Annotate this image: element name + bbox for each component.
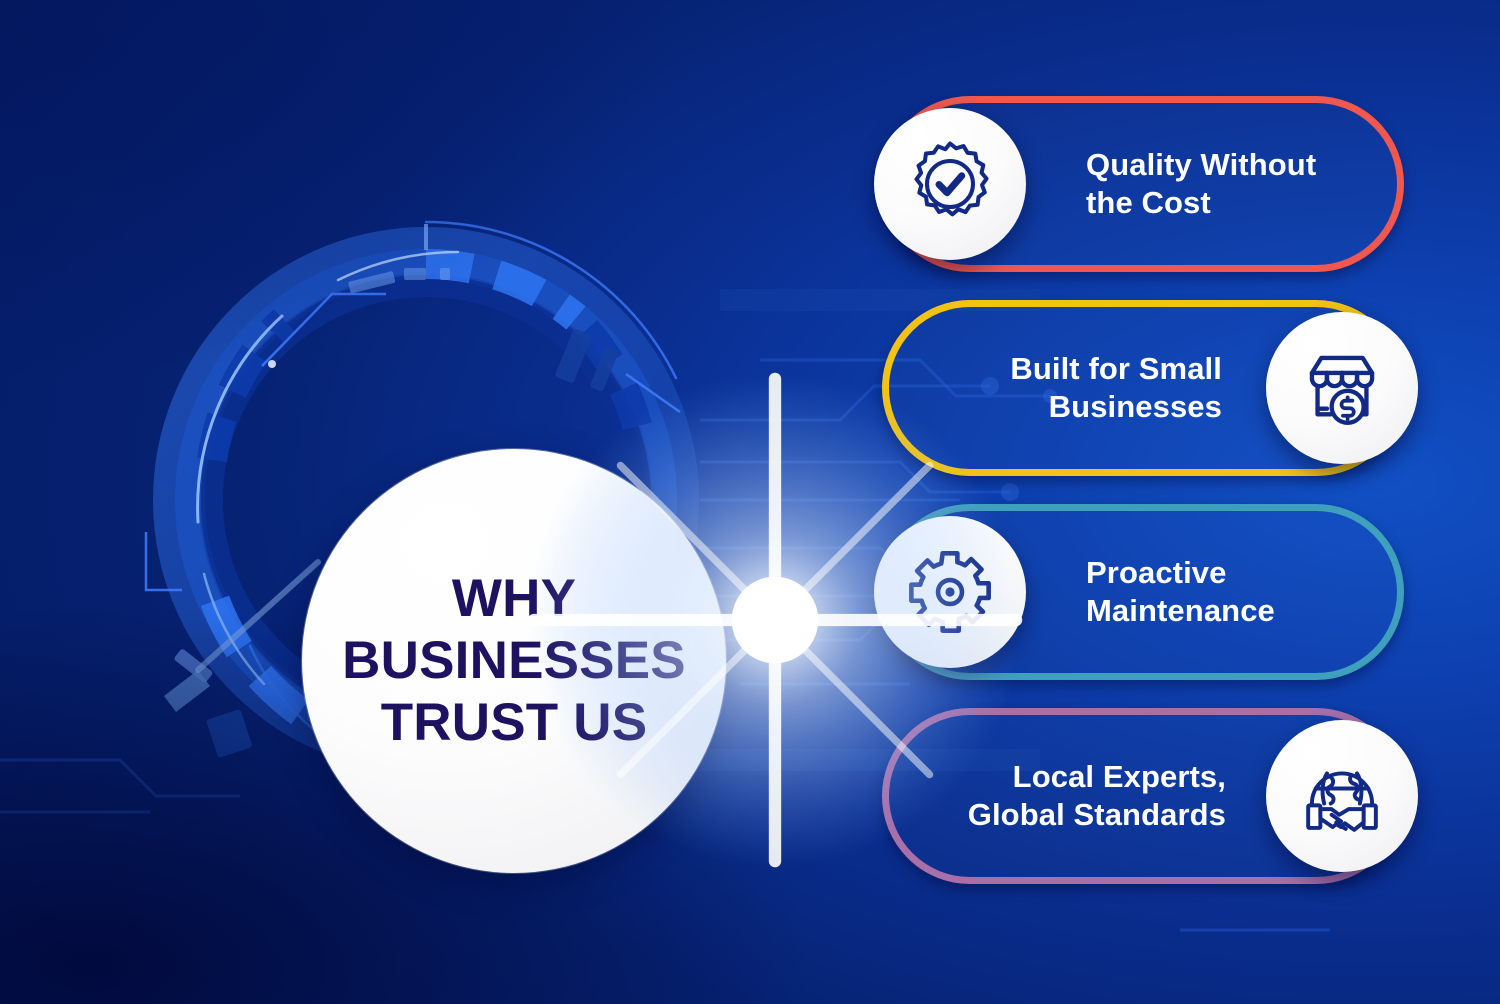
feature-label-line-2: Businesses <box>942 388 1222 426</box>
storefront-dollar-icon <box>1266 312 1418 464</box>
infographic-canvas: WHY BUSINESSES TRUST US <box>0 0 1500 1004</box>
hero-circle: WHY BUSINESSES TRUST US <box>302 449 726 873</box>
feature-label-line-1: Local Experts, <box>930 758 1226 796</box>
page-title-line-2: BUSINESSES <box>334 630 694 692</box>
feature-pill-label: Local Experts, Global Standards <box>930 758 1226 835</box>
feature-label-line-1: Quality Without <box>1086 146 1376 184</box>
feature-pill-quality-without-the-cost[interactable]: Quality Without the Cost <box>882 96 1404 272</box>
page-title-line-1: WHY <box>334 568 694 630</box>
feature-pill-label: Proactive Maintenance <box>1086 554 1376 631</box>
feature-pill-built-for-small-businesses[interactable]: Built for Small Businesses <box>882 300 1404 476</box>
feature-pill-local-experts-global-standards[interactable]: Local Experts, Global Standards <box>882 708 1404 884</box>
feature-pill-label: Built for Small Businesses <box>942 350 1222 427</box>
gear-settings-icon <box>874 516 1026 668</box>
feature-list: Quality Without the Cost Built for Small… <box>882 82 1422 922</box>
feature-label-line-2: the Cost <box>1086 184 1376 222</box>
page-title-line-3: TRUST US <box>334 692 694 754</box>
feature-label-line-1: Built for Small <box>942 350 1222 388</box>
tech-hud-ring: WHY BUSINESSES TRUST US <box>86 160 766 840</box>
feature-pill-proactive-maintenance[interactable]: Proactive Maintenance <box>882 504 1404 680</box>
quality-badge-check-icon <box>874 108 1026 260</box>
feature-pill-label: Quality Without the Cost <box>1086 146 1376 223</box>
globe-handshake-icon <box>1266 720 1418 872</box>
feature-label-line-2: Global Standards <box>930 796 1226 834</box>
page-title: WHY BUSINESSES TRUST US <box>334 568 694 754</box>
feature-label-line-1: Proactive <box>1086 554 1376 592</box>
feature-label-line-2: Maintenance <box>1086 592 1376 630</box>
